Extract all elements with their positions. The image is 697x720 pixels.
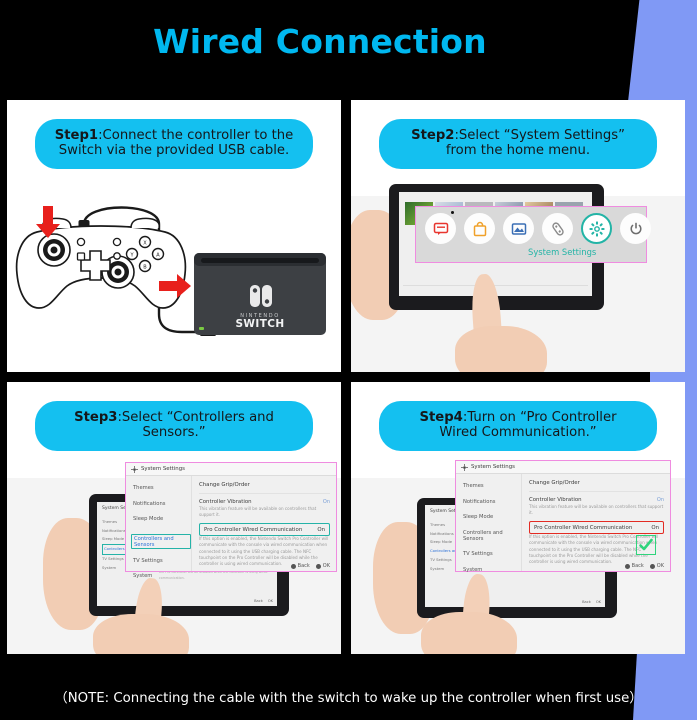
ok-button[interactable]: OK [316,563,330,569]
system-settings-label: System Settings [528,247,596,257]
setting-value: On [317,527,325,533]
setting-description: This vibration feature will be available… [199,506,330,518]
setting-label: Controller Vibration [529,497,582,503]
sidebar-item-notifications[interactable]: Notifications [131,500,191,508]
setting-label: Change Grip/Order [199,482,250,488]
step-panel-3: Step3:Select “Controllers and Sensors.” … [7,382,341,654]
step3-callout: System Settings Themes Notifications Sle… [125,462,337,572]
sidebar-item-system[interactable]: System [461,566,521,574]
callout-header: System Settings [456,461,670,474]
step3-line1: Select “Controllers and [122,410,274,425]
settings-gear-icon[interactable] [581,213,612,244]
step1-badge: Step1:Connect the controller to the Swit… [35,119,313,169]
right-hand [93,614,189,654]
step-panel-4: Step4:Turn on “Pro Controller Wired Comm… [351,382,685,654]
news-icon[interactable] [425,213,456,244]
step4-callout: System Settings Themes Notifications Sle… [455,460,671,572]
step3-badge: Step3:Select “Controllers and Sensors.” [35,401,313,451]
sidebar-item-notifications[interactable]: Notifications [461,498,521,506]
screen-back-button[interactable]: Back [254,599,263,603]
sidebar-item-sleep-mode[interactable]: Sleep Mode [461,513,521,521]
screen-back-button[interactable]: Back [582,600,591,604]
callout-body: Themes Notifications Sleep Mode Controll… [456,474,670,571]
setting-label: Change Grip/Order [529,480,580,486]
step4-line1: Turn on “Pro Controller [467,410,616,425]
album-icon[interactable] [503,213,534,244]
back-button[interactable]: Back [625,563,644,569]
eshop-bag-icon[interactable] [464,213,495,244]
step4-line2: Wired Communication.” [389,425,647,440]
gear-icon [461,464,468,471]
step4-badge: Step4:Turn on “Pro Controller Wired Comm… [379,401,657,451]
callout-main: Change Grip/Order Controller Vibration O… [522,474,670,571]
home-menu-highlight: System Settings [415,206,647,263]
setting-change-grip-order[interactable]: Change Grip/Order [199,482,330,494]
screen-ok-button[interactable]: OK [268,599,273,603]
svg-text:B: B [143,265,147,271]
home-menu-icons [425,213,651,244]
setting-label: Pro Controller Wired Communication [204,527,302,533]
step1-line2: Switch via the provided USB cable. [45,143,303,158]
setting-pro-controller-wired-communication[interactable]: Pro Controller Wired Communication On [199,523,330,536]
page-root: Wired Connection Step1:Connect the contr… [0,0,697,720]
callout-footer: Back OK [192,563,336,569]
right-hand [421,612,517,654]
power-icon[interactable] [620,213,651,244]
step2-badge: Step2:Select “System Settings” from the … [379,119,657,169]
step4-label: Step4 [419,410,462,425]
setting-change-grip-order[interactable]: Change Grip/Order [529,480,664,492]
back-button[interactable]: Back [291,563,310,569]
svg-text:A: A [156,253,160,259]
ok-button[interactable]: OK [650,563,664,569]
setting-value: On [651,525,659,531]
callout-body: Themes Notifications Sleep Mode Controll… [126,476,336,571]
step3-label: Step3 [74,410,117,425]
step1-line1: Connect the controller to the [103,128,294,143]
screen-ok-button[interactable]: OK [596,600,601,604]
setting-value: On [657,497,664,503]
sidebar-item-controllers-and-sensors[interactable]: Controllers and Sensors [461,529,521,543]
page-title: Wired Connection [0,22,640,61]
callout-footer: Back OK [522,563,670,569]
switch-dock-icon: NINTENDO SWITCH [192,251,328,337]
sidebar-item-controllers-and-sensors[interactable]: Controllers and Sensors [131,534,191,549]
step2-label: Step2 [411,128,454,143]
setting-label: Pro Controller Wired Communication [534,525,632,531]
setting-description: This vibration feature will be available… [529,504,664,516]
controllers-icon[interactable] [542,213,573,244]
svg-text:SWITCH: SWITCH [235,318,284,330]
setting-pro-controller-wired-communication[interactable]: Pro Controller Wired Communication On [529,521,664,534]
sidebar-item-themes[interactable]: Themes [461,482,521,490]
step2-line2: from the home menu. [389,143,647,158]
gear-icon [131,466,138,473]
step1-illustration: X A Y B [7,196,341,372]
step1-label: Step1 [55,128,98,143]
sidebar-item-tv-settings[interactable]: TV Settings [131,557,191,565]
steps-grid: Step1:Connect the controller to the Swit… [7,100,690,666]
callout-main: Change Grip/Order Controller Vibration O… [192,476,336,571]
svg-text:X: X [143,241,147,247]
callout-title: System Settings [471,464,515,470]
step2-line1: Select “System Settings” [459,128,625,143]
sidebar-item-sleep-mode[interactable]: Sleep Mode [131,515,191,523]
setting-label: Controller Vibration [199,499,252,505]
news-notification-dot [451,211,454,214]
callout-sidebar: Themes Notifications Sleep Mode Controll… [126,476,192,571]
callout-header: System Settings [126,463,336,476]
sidebar-item-themes[interactable]: Themes [131,484,191,492]
sidebar-item-system[interactable]: System [131,572,191,580]
step3-line2: Sensors.” [45,425,303,440]
green-check-icon [636,535,656,555]
setting-value: On [323,499,330,505]
arrow-down-icon [35,206,61,240]
arrow-right-icon [159,273,193,299]
footer-note: （NOTE: Connecting the cable with the swi… [0,687,697,706]
step-panel-2: Step2:Select “System Settings” from the … [351,100,685,372]
step-panel-1: Step1:Connect the controller to the Swit… [7,100,341,372]
sidebar-item-tv-settings[interactable]: TV Settings [461,550,521,558]
right-hand [455,326,547,372]
callout-title: System Settings [141,466,185,472]
callout-sidebar: Themes Notifications Sleep Mode Controll… [456,474,522,571]
